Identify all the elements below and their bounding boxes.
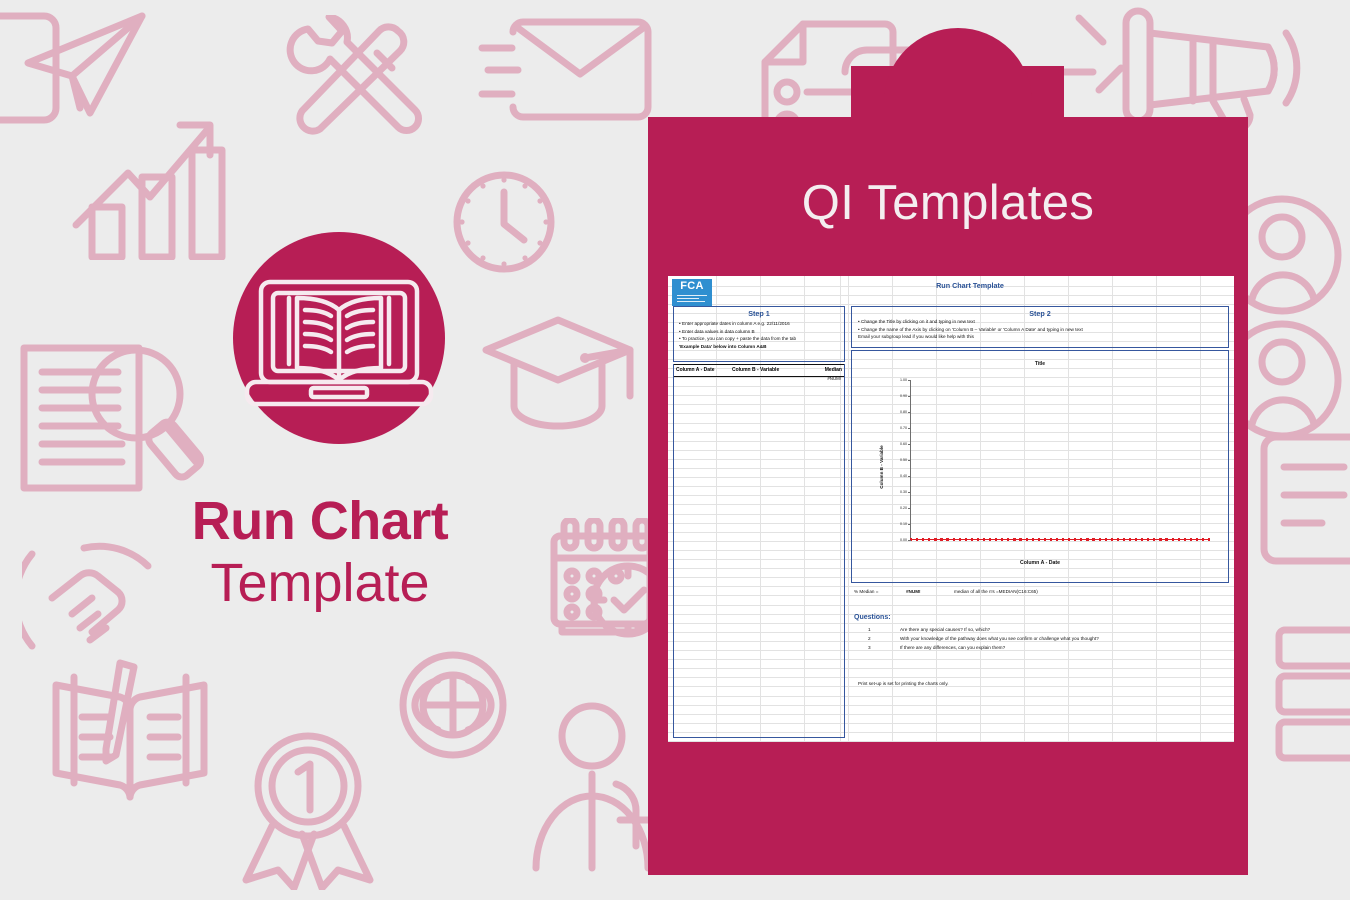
chart-title: Title — [854, 361, 1226, 367]
chart-data-point — [983, 538, 985, 542]
run-chart[interactable]: Title Column B - Variable 1.000.900.800.… — [854, 353, 1226, 580]
chart-y-tick-mark — [908, 476, 911, 477]
chart-data-point — [1013, 538, 1015, 542]
chart-data-point — [946, 538, 948, 542]
chart-data-point — [1196, 538, 1198, 542]
megaphone-icon — [1118, 5, 1350, 130]
chart-y-tick-mark — [908, 380, 911, 381]
laptop-open-book-icon — [233, 232, 445, 444]
question-number: 2 — [868, 636, 871, 641]
chart-data-point — [959, 538, 961, 542]
poster-title: Run Chart Template — [0, 492, 640, 614]
chart-data-point — [1044, 538, 1046, 542]
chart-data-point — [1153, 538, 1155, 542]
question-text: With your knowledge of the pathway does … — [900, 636, 1099, 641]
chart-data-point — [1141, 538, 1143, 542]
column-header-median: Median — [825, 367, 842, 373]
chart-data-point — [989, 538, 991, 542]
chart-y-tick-mark — [908, 540, 911, 541]
grid-row-line — [668, 741, 1234, 742]
chart-y-tick-mark — [908, 460, 911, 461]
chart-y-tick-label: 0.80 — [873, 410, 910, 414]
question-text: Are there any special causes? If so, whi… — [900, 627, 990, 632]
chart-data-point — [1123, 538, 1125, 542]
chart-data-point — [940, 538, 942, 542]
median-label: % Median = — [854, 589, 878, 594]
chart-data-point — [916, 538, 918, 542]
chart-data-point — [1184, 538, 1186, 542]
chart-y-tick-label: 0.50 — [873, 458, 910, 462]
chart-y-tick-mark — [908, 492, 911, 493]
chart-data-point — [1172, 538, 1174, 542]
graduation-cap-icon — [480, 310, 640, 435]
chart-y-axis-label: Column B - Variable — [879, 445, 884, 488]
chart-data-point — [1105, 538, 1107, 542]
instruction-line: • Change the name of the Axis by clickin… — [858, 326, 1228, 334]
document-corner-icon — [0, 8, 60, 128]
chart-data-point — [971, 538, 973, 542]
chart-data-point — [1092, 538, 1094, 542]
chart-y-tick-mark — [908, 412, 911, 413]
grid-row-line — [668, 295, 1234, 296]
chart-data-point — [934, 538, 936, 542]
chart-data-point — [1190, 538, 1192, 542]
fca-logo-text: FCA — [672, 280, 712, 292]
instruction-line: 'Example Data' below into Column A&B — [679, 343, 844, 351]
clock-icon — [452, 170, 557, 275]
median-num-error: #NUM! — [674, 376, 844, 381]
sheet-title: Run Chart Template — [880, 281, 1060, 290]
chart-data-point — [1074, 538, 1076, 542]
spreadsheet-screenshot[interactable]: FCA Run Chart Template Step 1 Step 2 • E… — [668, 276, 1234, 742]
chart-y-tick-label: 1.00 — [873, 378, 910, 382]
award-ribbon-1-icon — [238, 730, 378, 890]
chart-plot-area: 1.000.900.800.700.600.500.400.300.200.10… — [910, 380, 1208, 540]
chart-data-point — [1086, 538, 1088, 542]
print-note: Print set-up is set for printing the cha… — [858, 681, 949, 686]
instruction-line: Email your subgroup lead if you would li… — [858, 333, 1228, 341]
chart-y-tick-mark — [908, 428, 911, 429]
clipboard-title: QI Templates — [648, 175, 1248, 231]
chart-data-point — [1062, 538, 1064, 542]
chart-data-point — [1159, 538, 1161, 542]
chart-data-point — [1038, 538, 1040, 542]
chart-y-tick-mark — [908, 444, 911, 445]
chart-data-point — [1007, 538, 1009, 542]
envelope-fast-icon — [478, 12, 653, 127]
chart-data-point — [1050, 538, 1052, 542]
chart-data-point — [1135, 538, 1137, 542]
document-magnifier-icon — [18, 330, 208, 505]
chart-y-tick-label: 0.70 — [873, 426, 910, 430]
chart-data-point — [995, 538, 997, 542]
chart-y-tick-mark — [908, 524, 911, 525]
instruction-line: • Enter data values in data column B — [679, 328, 844, 336]
chart-data-point — [1056, 538, 1058, 542]
chart-y-tick-label: 0.20 — [873, 506, 910, 510]
globe-icon — [398, 650, 508, 760]
poster-canvas: Run Chart Template QI Templates FCA Run … — [0, 0, 1350, 900]
person-avatar-icon — [1238, 320, 1350, 450]
column-header-date: Column A - Date — [676, 367, 715, 373]
step1-instructions: • Enter appropriate dates in column A e.… — [679, 320, 844, 350]
chart-data-point — [1068, 538, 1070, 542]
chart-y-tick-label: 0.40 — [873, 474, 910, 478]
chart-data-point — [1208, 538, 1210, 542]
fca-logo: FCA — [672, 279, 712, 306]
chart-data-point — [965, 538, 967, 542]
chart-data-point — [1001, 538, 1003, 542]
chart-y-tick-label: 0.00 — [873, 538, 910, 542]
data-table-box — [673, 364, 845, 738]
chart-data-point — [1178, 538, 1180, 542]
step1-heading: Step 1 — [673, 309, 845, 318]
chart-y-tick-label: 0.10 — [873, 522, 910, 526]
chart-y-tick-label: 0.90 — [873, 394, 910, 398]
wrench-screwdriver-icon — [280, 15, 425, 145]
bar-chart-arrow-icon — [70, 115, 250, 260]
column-header-variable: Column B - Variable — [732, 367, 779, 373]
chart-y-tick-label: 0.30 — [873, 490, 910, 494]
poster-title-line2: Template — [0, 552, 640, 614]
person-avatar-icon — [1238, 195, 1350, 325]
chart-data-point — [922, 538, 924, 542]
instruction-line: • To practice, you can copy + paste the … — [679, 335, 844, 343]
chart-data-point — [1111, 538, 1113, 542]
chart-data-point — [1099, 538, 1101, 542]
median-value: #NUM! — [906, 589, 921, 594]
question-text: If there are any differences, can you ex… — [900, 645, 1005, 650]
chart-data-point — [977, 538, 979, 542]
chart-y-tick-mark — [908, 508, 911, 509]
chart-data-point — [1019, 538, 1021, 542]
confetti-strokes-icon — [1055, 10, 1145, 125]
step2-instructions: • Change the Title by clicking on it and… — [858, 318, 1228, 341]
book-pencil-icon — [48, 655, 213, 820]
poster-title-line1: Run Chart — [0, 492, 640, 550]
chart-data-point — [1147, 538, 1149, 542]
laptop-open-book-badge — [233, 232, 445, 444]
chart-y-tick-mark — [908, 396, 911, 397]
chart-data-point — [953, 538, 955, 542]
grid-col-line — [848, 276, 849, 742]
chart-data-point — [1026, 538, 1028, 542]
question-number: 1 — [868, 627, 871, 632]
chart-data-point — [1080, 538, 1082, 542]
step2-heading: Step 2 — [851, 309, 1229, 318]
chart-median-run-line — [910, 539, 1208, 540]
chart-x-axis-label: Column A - Date — [854, 560, 1226, 566]
chart-y-tick-label: 0.60 — [873, 442, 910, 446]
chart-data-point — [1165, 538, 1167, 542]
instruction-line: • Enter appropriate dates in column A e.… — [679, 320, 844, 328]
chart-data-point — [1032, 538, 1034, 542]
chart-data-point — [1129, 538, 1131, 542]
chart-data-point — [1202, 538, 1204, 542]
question-number: 3 — [868, 645, 871, 650]
questions-heading: Questions: — [854, 614, 891, 621]
chart-data-point — [928, 538, 930, 542]
instruction-line: • Change the Title by clicking on it and… — [858, 318, 1228, 326]
chart-data-point — [1117, 538, 1119, 542]
median-formula: median of all the n's =MEDIAN(C16:C65) — [954, 589, 1038, 594]
book-stack-icon — [1275, 620, 1350, 770]
